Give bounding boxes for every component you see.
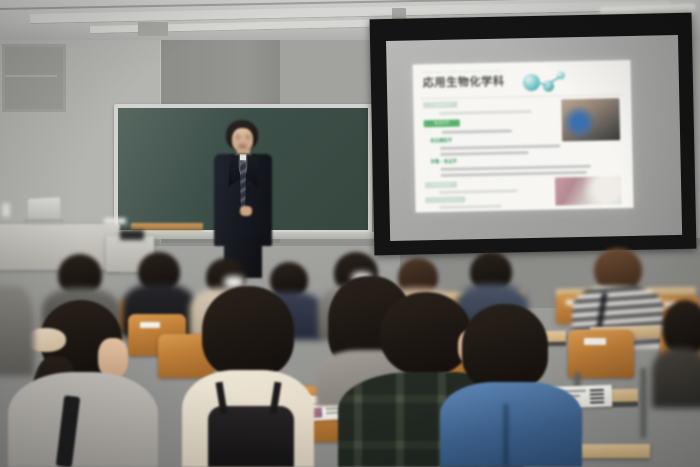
slide-line-2a	[440, 144, 560, 150]
qr-code	[590, 389, 604, 403]
lecture-hall-photo: Department of Applied Biological Chemist…	[0, 0, 700, 467]
slide-line-2b	[440, 151, 528, 156]
student-torso-denim	[440, 382, 582, 467]
slide-line-3b	[441, 171, 587, 177]
presentation-slide: Department of Applied Biological Chemist…	[413, 60, 634, 213]
slide-title-band: Department of Applied Biological Chemist…	[421, 64, 624, 99]
student-left-edge	[0, 286, 34, 376]
pinafore-body	[208, 406, 294, 467]
slide-heading-2: 食品機能学	[430, 138, 452, 144]
slide-heading-3: 栄養・食品学	[431, 159, 457, 166]
student-denim-jacket	[436, 304, 584, 467]
lectern-cable-box	[120, 230, 144, 240]
wall-frame-panel	[2, 44, 66, 112]
desk-leg-2	[640, 368, 646, 438]
projection-surface: Department of Applied Biological Chemist…	[386, 35, 682, 241]
chalk-ledge-wood	[131, 223, 203, 230]
presenter-hands	[240, 206, 252, 216]
slide-line-5a	[439, 205, 501, 209]
slide-title: 応用生物化学科	[423, 76, 505, 91]
student-torso-right-edge	[652, 348, 700, 408]
slide-line-3a	[441, 165, 591, 171]
slide-line-4a	[439, 189, 517, 194]
hair-bob-2	[462, 304, 548, 390]
ceiling-mount-box	[138, 22, 168, 36]
slide-line-1a	[442, 129, 512, 133]
desk-paper-cup	[2, 203, 10, 217]
slide-badge-1: 食品科学	[424, 120, 460, 128]
laptop-base	[24, 219, 64, 223]
slide-subtitle: Department of Applied Biological Chemist…	[423, 69, 503, 75]
projection-screen: Department of Applied Biological Chemist…	[370, 13, 697, 256]
student-cream-overall	[168, 286, 328, 467]
hair-bob	[202, 286, 294, 378]
lectern	[0, 224, 120, 270]
slide-photo-lab	[561, 98, 620, 141]
lectern-paper	[104, 218, 126, 224]
student-torso-hoodie	[8, 372, 158, 467]
slide-badge-0: 生物機能化学	[423, 102, 457, 109]
slide-badge-4: 応用微生物学	[425, 182, 457, 189]
slide-photo-students	[555, 176, 622, 205]
slide-line-0a	[440, 110, 532, 115]
molecule-graphic	[513, 67, 572, 94]
presenter	[206, 120, 276, 265]
slide-badge-5: バイオテクノロジー	[425, 196, 465, 203]
